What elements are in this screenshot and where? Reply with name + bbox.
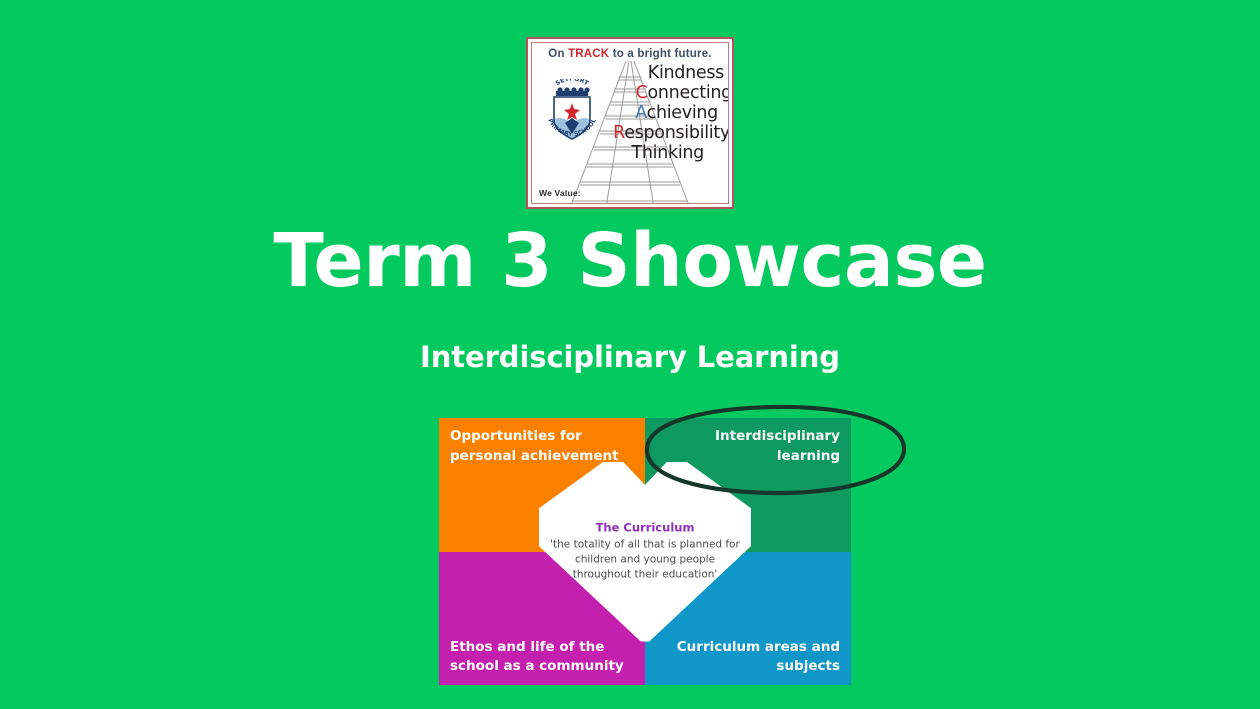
we-value-label: We Value: [539,188,581,198]
curriculum-diagram: Opportunities for personal achievement I… [439,418,851,685]
value-initial: R [613,123,624,143]
crest-top-text: SEYPORT [554,79,590,88]
value-row-kindness: Kindness [590,65,729,83]
value-row-responsibility: Responsibility [590,125,729,143]
value-initial: A [635,103,646,123]
value-rest: indness [659,63,724,83]
value-rest: onnecting [647,83,729,103]
value-row-thinking: Thinking [590,145,729,163]
school-logo-card: On TRACK to a bright future. [526,37,734,209]
school-logo-inner-frame: On TRACK to a bright future. [531,42,729,204]
value-rest: esponsibility [624,123,729,143]
value-initial: C [636,83,648,103]
value-initial: K [648,63,659,83]
quadrant-label: Curriculum areas and subjects [660,638,840,677]
value-row-achieving: Achieving [590,105,729,123]
slide-subtitle: Interdisciplinary Learning [0,340,1260,374]
school-values-list: Kindness Connecting Achieving Responsibi… [590,65,729,165]
value-rest: hinking [642,143,704,163]
value-initial: T [631,143,641,163]
quadrant-label: Ethos and life of the school as a commun… [450,638,630,677]
quadrant-label: Opportunities for personal achievement [450,427,628,466]
slide-title: Term 3 Showcase [0,221,1260,302]
value-row-connecting: Connecting [590,85,729,103]
value-rest: chieving [647,103,718,123]
slide-canvas: On TRACK to a bright future. [0,0,1260,709]
quadrant-label: Interdisciplinary learning [662,427,840,466]
